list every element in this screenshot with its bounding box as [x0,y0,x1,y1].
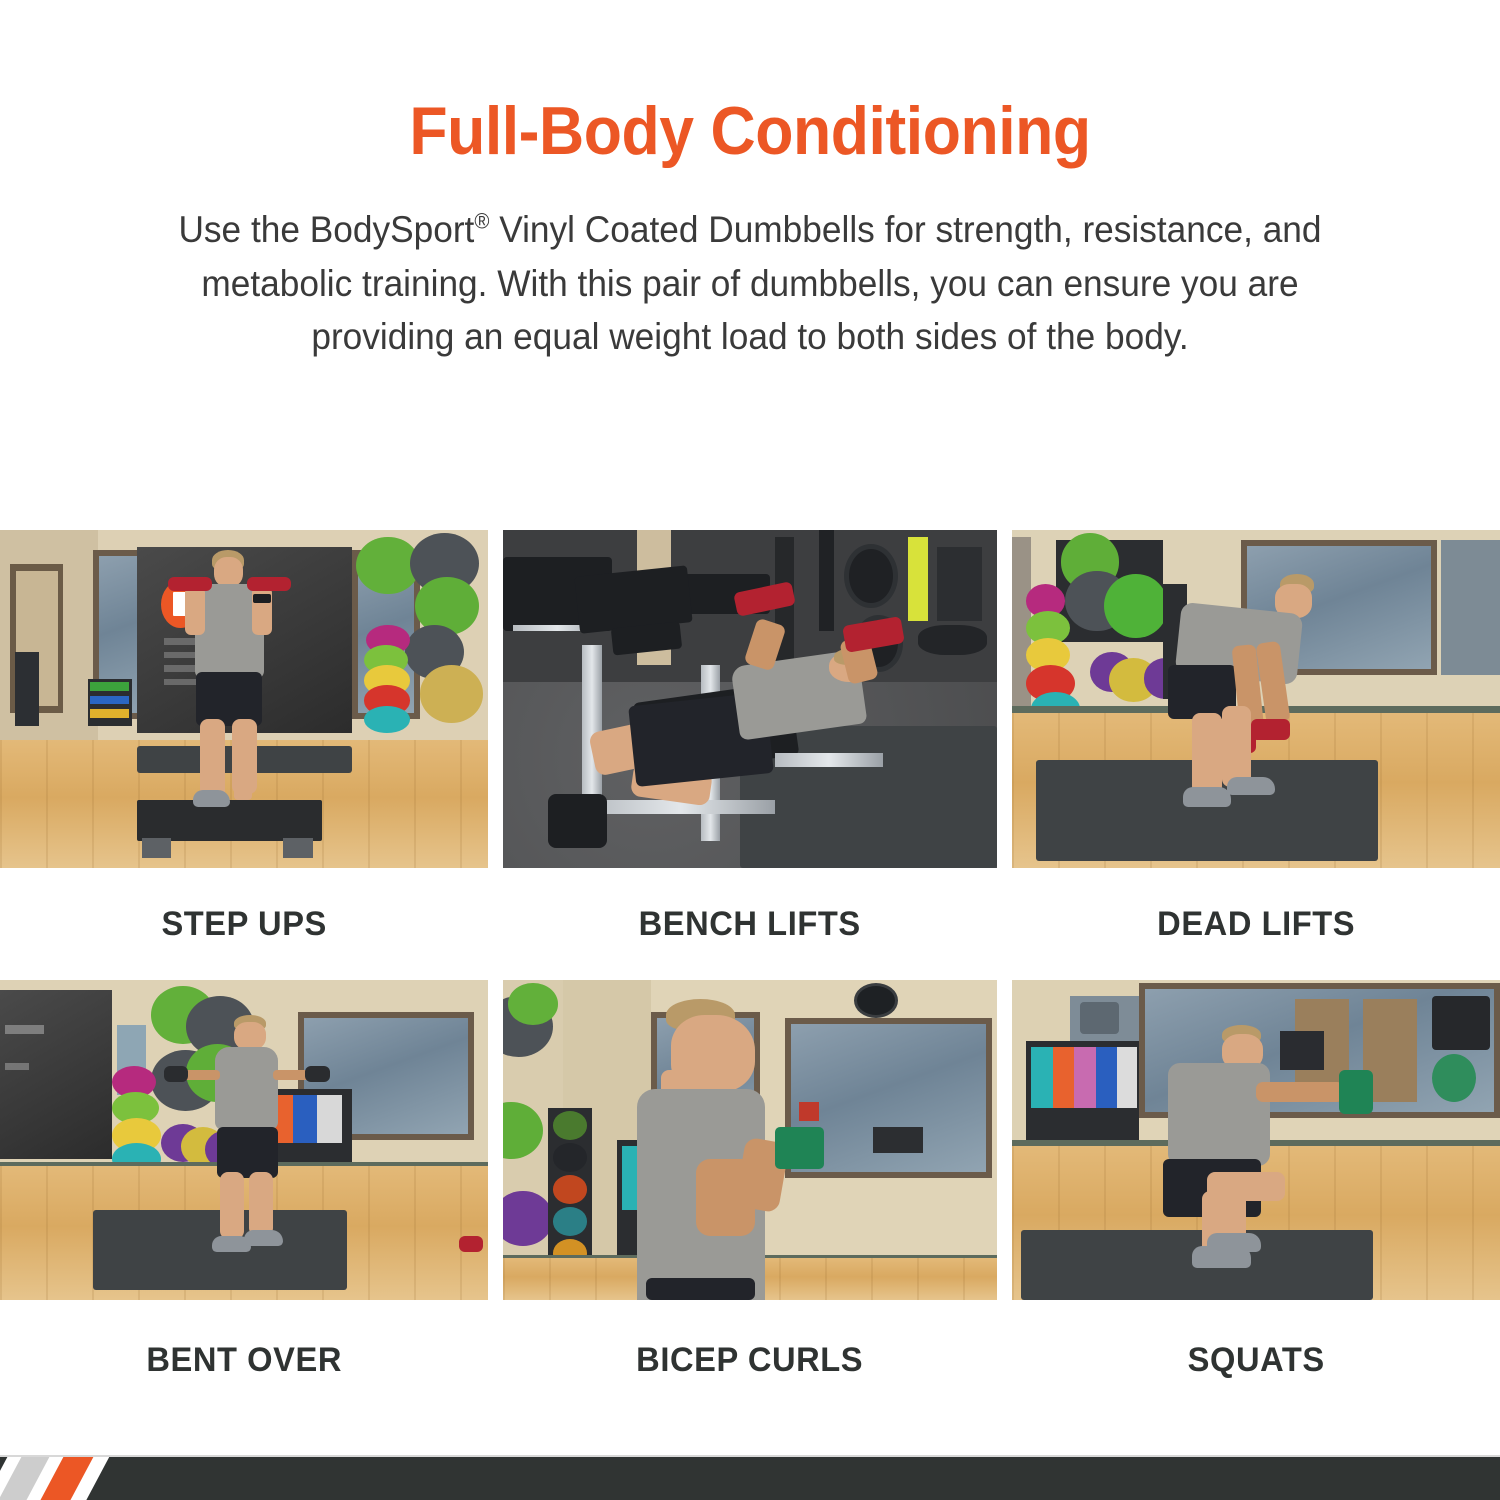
exercise-photo-bicep-curls [503,980,996,1300]
exercise-caption-bent-over: BENT OVER [10,1300,479,1420]
footer-bar [0,1457,1500,1500]
exercise-caption-step-ups: STEP UPS [10,868,479,980]
intro-paragraph: Use the BodySport® Vinyl Coated Dumbbell… [134,203,1365,363]
registered-trademark-symbol: ® [474,209,489,234]
exercise-row-1: STEP UPS [0,530,1500,980]
exercise-caption-squats: SQUATS [1021,1300,1490,1420]
exercise-grid: STEP UPS [0,530,1500,1420]
exercise-photo-squats [1012,980,1500,1300]
exercise-card-step-ups: STEP UPS [0,530,488,980]
exercise-photo-step-ups [0,530,488,868]
header: Full-Body Conditioning Use the BodySport… [0,0,1500,363]
exercise-card-bicep-curls: BICEP CURLS [503,980,996,1420]
page-title: Full-Body Conditioning [60,96,1440,167]
exercise-row-2: BENT OVER [0,980,1500,1420]
exercise-caption-bicep-curls: BICEP CURLS [513,1300,987,1420]
exercise-card-dead-lifts: DEAD LIFTS [1012,530,1500,980]
exercise-card-squats: SQUATS [1012,980,1500,1420]
exercise-photo-dead-lifts [1012,530,1500,868]
exercise-photo-bent-over [0,980,488,1300]
infographic-page: Full-Body Conditioning Use the BodySport… [0,0,1500,1500]
exercise-card-bench-lifts: BENCH LIFTS [503,530,996,980]
exercise-card-bent-over: BENT OVER [0,980,488,1420]
intro-text-pre: Use the BodySport [178,208,474,250]
exercise-caption-dead-lifts: DEAD LIFTS [1021,868,1490,980]
exercise-photo-bench-lifts [503,530,996,868]
exercise-caption-bench-lifts: BENCH LIFTS [513,868,987,980]
